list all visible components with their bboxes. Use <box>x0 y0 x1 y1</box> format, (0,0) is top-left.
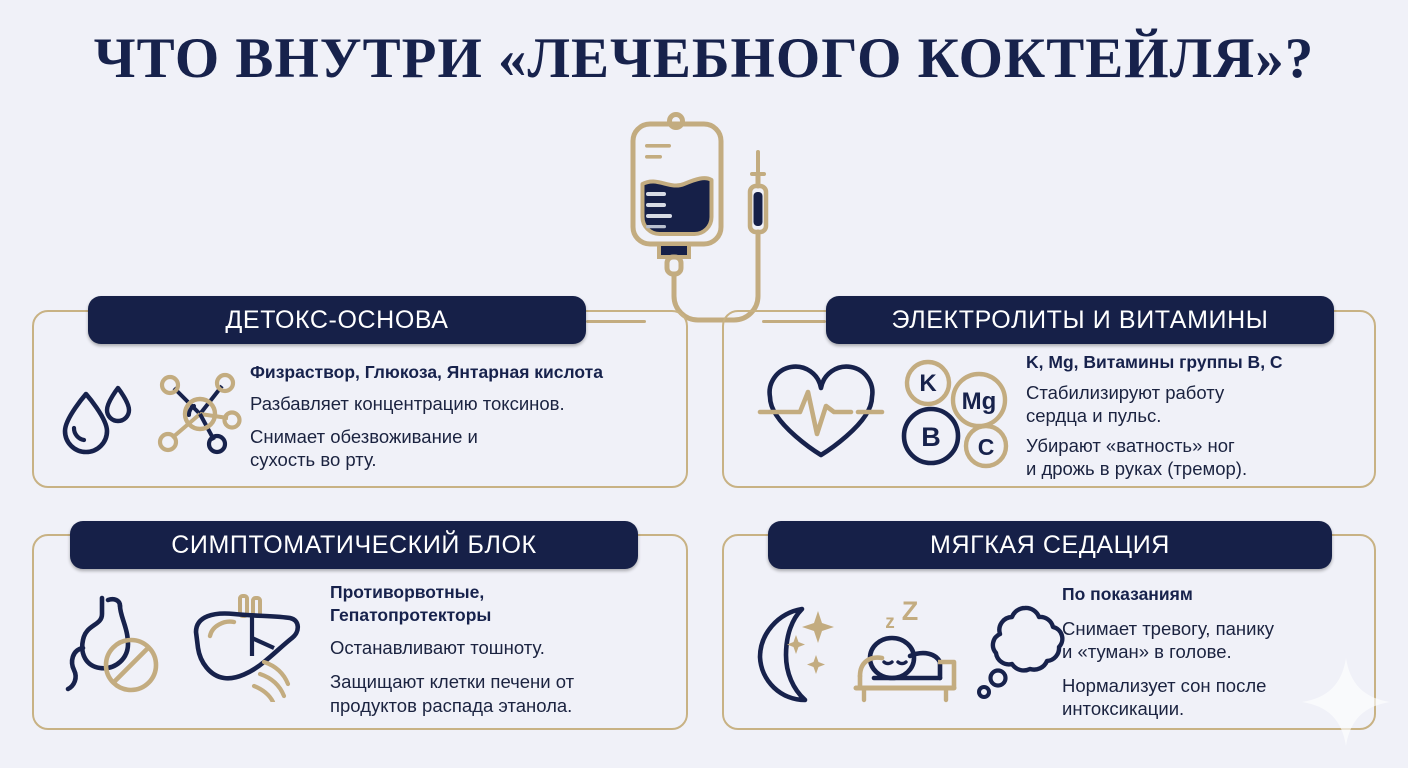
card-electrolytes-lead: K, Mg, Витамины группы B, C <box>1026 351 1368 373</box>
card-symptomatic-line-1: Останавливают тошноту. <box>330 636 680 659</box>
card-symptomatic-header: СИМПТОМАТИЧЕСКИЙ БЛОК <box>70 521 638 569</box>
page-title: ЧТО ВНУТРИ «ЛЕЧЕБНОГО КОКТЕЙЛЯ»? <box>0 26 1408 91</box>
card-electrolytes-icons: K Mg B C <box>754 356 1026 477</box>
svg-text:C: C <box>978 434 995 460</box>
card-electrolytes-line-4: и дрожь в руках (тремор). <box>1026 457 1368 480</box>
card-symptomatic-icons <box>58 592 330 707</box>
card-detox-line-1: Разбавляет концентрацию токсинов. <box>250 392 680 415</box>
card-sedation-header-label: МЯГКАЯ СЕДАЦИЯ <box>930 531 1170 560</box>
card-symptomatic-lead-2: Гепатопротекторы <box>330 604 680 626</box>
card-sedation-line-1: Снимает тревогу, панику <box>1062 617 1364 640</box>
sleep-letters-big: Z <box>902 596 919 626</box>
card-electrolytes-header-label: ЭЛЕКТРОЛИТЫ И ВИТАМИНЫ <box>892 306 1269 335</box>
card-sedation-line-4: интоксикации. <box>1062 697 1364 720</box>
card-electrolytes-text: K, Mg, Витамины группы B, C Стабилизирую… <box>1026 351 1368 481</box>
sleep-letters-small: z <box>885 612 895 633</box>
card-detox-text: Физраствор, Глюкоза, Янтарная кислота Ра… <box>250 361 680 471</box>
card-electrolytes-header: ЭЛЕКТРОЛИТЫ И ВИТАМИНЫ <box>826 296 1334 344</box>
card-sedation-icons: Z z <box>744 596 1062 709</box>
card-sedation-header: МЯГКАЯ СЕДАЦИЯ <box>768 521 1332 569</box>
water-drop-icon <box>50 368 142 465</box>
liver-icon <box>182 592 310 707</box>
vitamin-circles-icon: K Mg B C <box>896 356 1014 477</box>
card-symptomatic-line-2: Защищают клетки печени от <box>330 670 680 693</box>
svg-text:Mg: Mg <box>962 388 997 415</box>
card-electrolytes-line-2: сердца и пульс. <box>1026 404 1368 427</box>
card-detox-icons <box>50 366 250 467</box>
card-electrolytes-body: K Mg B C K, Mg, Витамины группы B, C Ста… <box>754 350 1368 482</box>
card-symptomatic-text: Противорвотные, Гепатопротекторы Останав… <box>330 581 680 717</box>
iv-drip-bag-icon <box>612 112 842 327</box>
card-symptomatic-lead-1: Противорвотные, <box>330 581 680 603</box>
heart-pulse-icon <box>754 362 888 471</box>
card-detox-body: Физраствор, Глюкоза, Янтарная кислота Ра… <box>50 352 680 480</box>
sleeping-person-icon: Z z <box>850 596 968 709</box>
card-sedation-line-3: Нормализует сон после <box>1062 674 1364 697</box>
card-symptomatic-line-3: продуктов распада этанола. <box>330 694 680 717</box>
card-sedation-lead: По показаниям <box>1062 583 1364 605</box>
card-detox-lead: Физраствор, Глюкоза, Янтарная кислота <box>250 361 680 383</box>
card-symptomatic-header-label: СИМПТОМАТИЧЕСКИЙ БЛОК <box>171 531 536 560</box>
card-detox-header: ДЕТОКС-ОСНОВА <box>88 296 586 344</box>
stomach-no-nausea-icon <box>58 592 178 707</box>
card-electrolytes-line-3: Убирают «ватность» ног <box>1026 434 1368 457</box>
crescent-moon-stars-icon <box>744 597 848 708</box>
molecule-icon <box>152 366 248 467</box>
card-sedation-line-2: и «туман» в голове. <box>1062 640 1364 663</box>
infographic-root: ЧТО ВНУТРИ «ЛЕЧЕБНОГО КОКТЕЙЛЯ»? <box>0 0 1408 768</box>
card-detox-header-label: ДЕТОКС-ОСНОВА <box>225 306 448 335</box>
card-electrolytes-line-1: Стабилизируют работу <box>1026 381 1368 404</box>
card-sedation-body: Z z <box>744 578 1364 726</box>
svg-text:B: B <box>921 422 941 452</box>
svg-text:K: K <box>919 370 937 397</box>
card-symptomatic-body: Противорвотные, Гепатопротекторы Останав… <box>58 576 680 722</box>
card-detox-line-2: Снимает обезвоживание и <box>250 425 680 448</box>
card-sedation-text: По показаниям Снимает тревогу, панику и … <box>1062 583 1364 721</box>
card-detox-line-3: сухость во рту. <box>250 448 680 471</box>
